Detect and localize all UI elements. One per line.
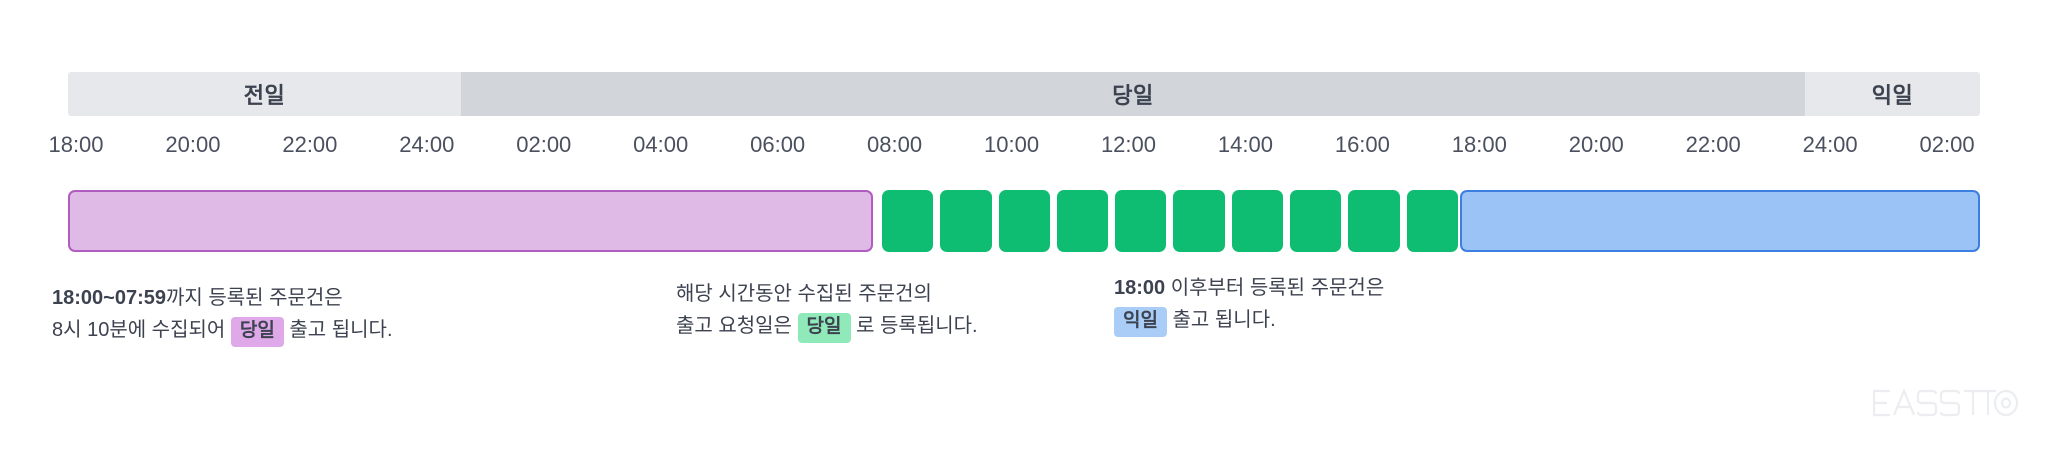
same-day-hour-block: [999, 190, 1050, 252]
hour-tick-label: 04:00: [633, 132, 688, 158]
hour-tick-label: 06:00: [750, 132, 805, 158]
hour-tick-label: 12:00: [1101, 132, 1156, 158]
same-day-hour-block: [940, 190, 991, 252]
hour-tick-label: 24:00: [399, 132, 454, 158]
caption-next-day: 18:00 이후부터 등록된 주문건은 익일 출고 됩니다.: [1114, 272, 1384, 337]
same-day-hour-block: [882, 190, 933, 252]
same-day-hour-block: [1232, 190, 1283, 252]
order-cutoff-timeline: 전일 당일 익일 18:0020:0022:0024:0002:0004:000…: [0, 0, 2048, 462]
day-segment-previous-label: 전일: [244, 78, 285, 110]
caption-next-line-2: 익일 출고 됩니다.: [1114, 304, 1384, 337]
next-day-bar: [1460, 190, 1980, 252]
hour-tick-label: 10:00: [984, 132, 1039, 158]
hour-tick-label: 02:00: [1920, 132, 1975, 158]
caption-same-line-1: 해당 시간동안 수집된 주문건의: [676, 278, 978, 310]
same-day-hour-block: [1057, 190, 1108, 252]
day-segment-same-label: 당일: [1112, 78, 1153, 110]
caption-previous-line-2-post: 출고 됩니다.: [289, 319, 392, 341]
hour-tick-label: 02:00: [516, 132, 571, 158]
same-day-hour-block: [1407, 190, 1458, 252]
eassto-wordmark-icon: [1870, 386, 2020, 420]
timeline-bar-row: [68, 190, 1980, 252]
caption-same-line-2-post: 로 등록됩니다.: [856, 315, 978, 337]
hour-tick-label: 14:00: [1218, 132, 1273, 158]
caption-next-line-1: 18:00 이후부터 등록된 주문건은: [1114, 272, 1384, 304]
caption-same-line-2: 출고 요청일은 당일 로 등록됩니다.: [676, 310, 978, 343]
caption-next-line-2-post: 출고 됩니다.: [1173, 309, 1276, 331]
hour-tick-label: 16:00: [1335, 132, 1390, 158]
hour-tick-label: 22:00: [1686, 132, 1741, 158]
same-day-hour-block: [1115, 190, 1166, 252]
hour-tick-label: 20:00: [165, 132, 220, 158]
hour-tick-label: 18:00: [48, 132, 103, 158]
day-segment-same: 당일: [461, 72, 1805, 116]
caption-same-day: 해당 시간동안 수집된 주문건의 출고 요청일은 당일 로 등록됩니다.: [676, 278, 978, 343]
hour-tick-label: 24:00: [1803, 132, 1858, 158]
caption-same-line-2-pre: 출고 요청일은: [676, 315, 792, 337]
hour-tick-label: 08:00: [867, 132, 922, 158]
same-day-block-group: [882, 190, 1458, 252]
same-day-hour-block: [1290, 190, 1341, 252]
badge-same-day-purple: 당일: [231, 317, 284, 347]
caption-previous-line-2: 8시 10분에 수집되어 당일 출고 됩니다.: [52, 314, 393, 347]
day-segment-previous: 전일: [68, 72, 461, 116]
badge-same-day-green: 당일: [798, 313, 851, 343]
badge-next-day-blue: 익일: [1114, 307, 1167, 337]
caption-previous-time-range: 18:00~07:59: [52, 287, 166, 309]
hour-tick-label: 20:00: [1569, 132, 1624, 158]
eassto-logo-watermark: [1870, 386, 2020, 420]
hour-tick-label: 18:00: [1452, 132, 1507, 158]
day-segment-next-label: 익일: [1872, 78, 1913, 110]
caption-previous-line-1-rest: 까지 등록된 주문건은: [166, 287, 343, 309]
caption-previous-day: 18:00~07:59까지 등록된 주문건은 8시 10분에 수집되어 당일 출…: [52, 282, 393, 347]
day-header-band: 전일 당일 익일: [68, 72, 1980, 116]
caption-next-line-1-rest: 이후부터 등록된 주문건은: [1171, 277, 1385, 299]
day-segment-next: 익일: [1805, 72, 1980, 116]
caption-next-time: 18:00: [1114, 277, 1165, 299]
hour-tick-row: 18:0020:0022:0024:0002:0004:0006:0008:00…: [68, 132, 1980, 162]
same-day-hour-block: [1173, 190, 1224, 252]
same-day-hour-block: [1348, 190, 1399, 252]
caption-previous-line-1: 18:00~07:59까지 등록된 주문건은: [52, 282, 393, 314]
caption-previous-line-2-pre: 8시 10분에 수집되어: [52, 319, 225, 341]
previous-day-bar: [68, 190, 873, 252]
hour-tick-label: 22:00: [282, 132, 337, 158]
